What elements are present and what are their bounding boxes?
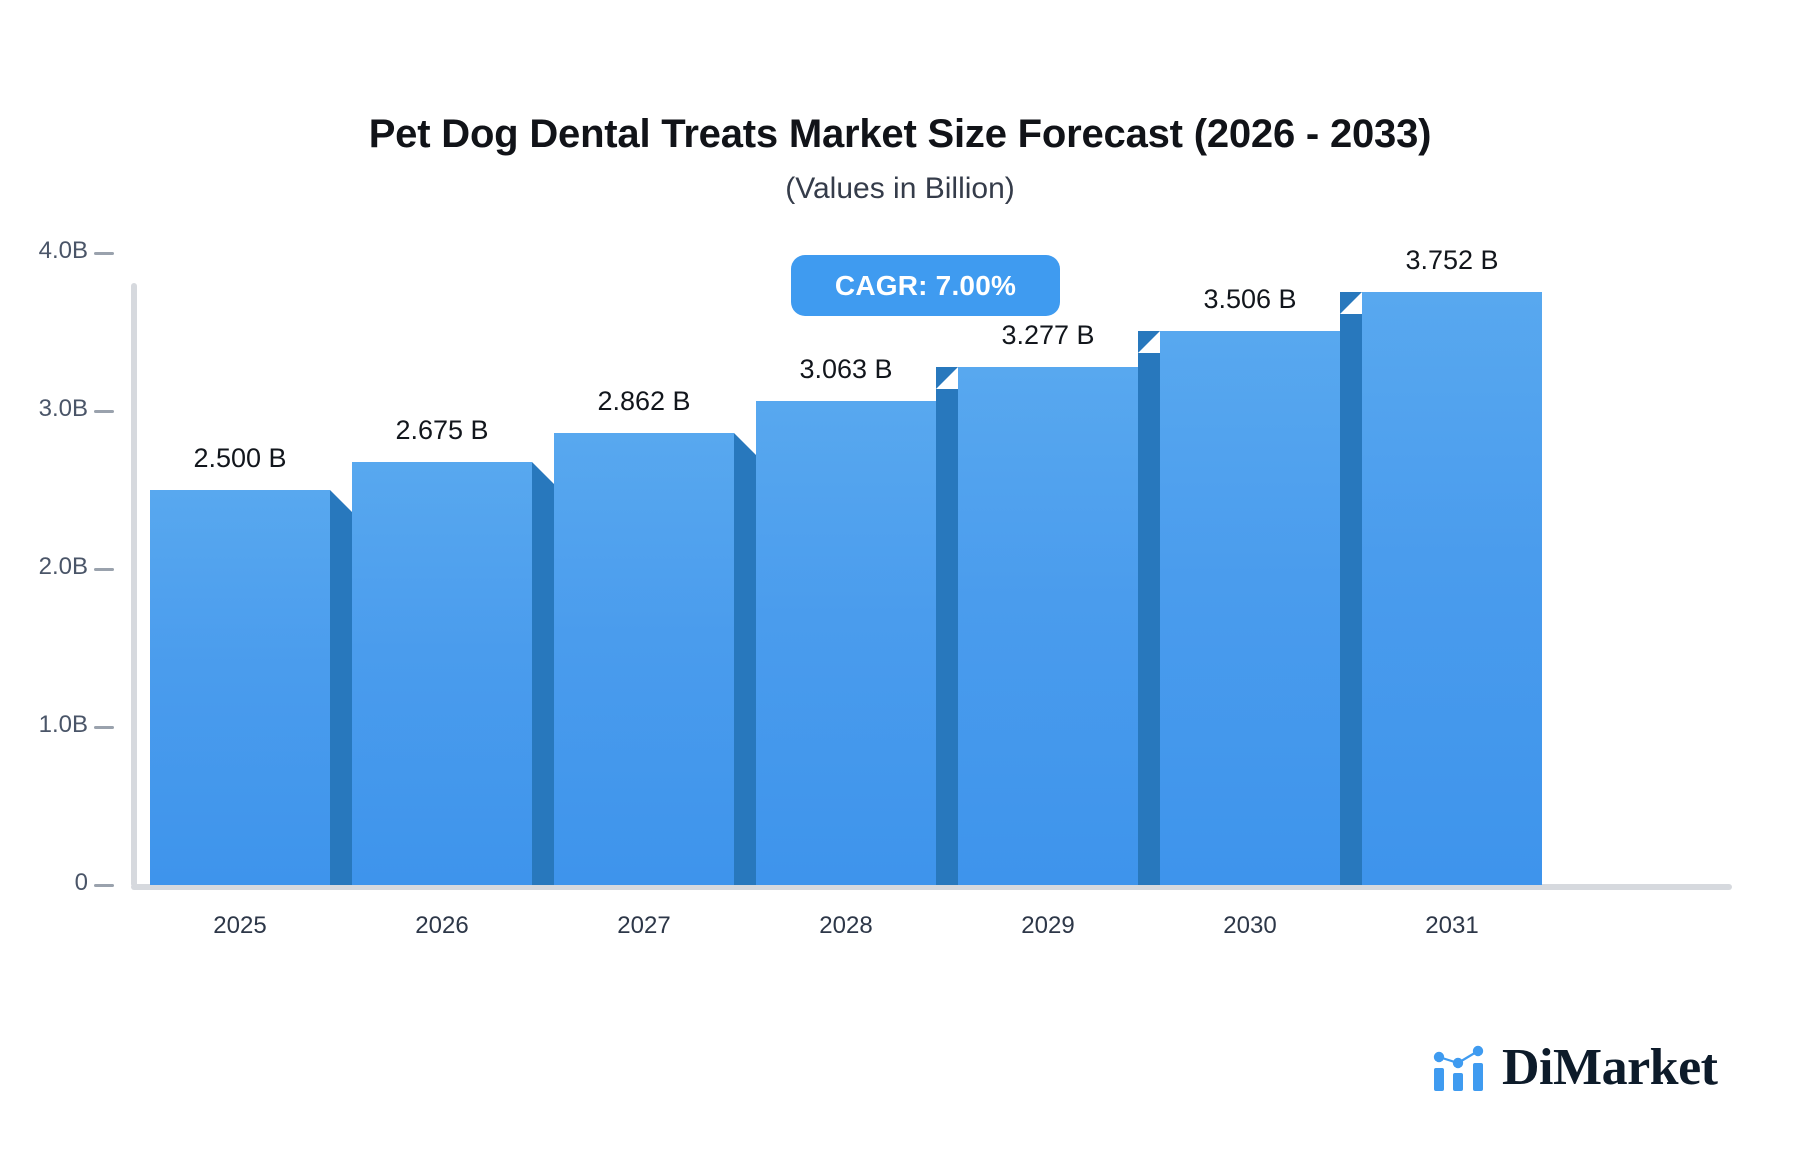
bar-face (958, 367, 1138, 885)
y-axis-tick-label: 1.0B (39, 711, 88, 739)
bar-top-bevel (1138, 331, 1160, 353)
bar[interactable] (150, 490, 330, 885)
bar-face (1160, 331, 1340, 885)
bar-value-label: 3.063 B (726, 354, 966, 385)
bar-side-face (936, 389, 958, 885)
bar-top-bevel (330, 490, 352, 512)
bar-side-face (330, 512, 352, 885)
logo-text: DiMarket (1502, 1042, 1717, 1094)
y-axis-tick-mark (94, 252, 114, 255)
y-axis-tick-mark (94, 410, 114, 413)
bar[interactable] (352, 462, 532, 885)
y-axis-tick-label: 3.0B (39, 395, 88, 423)
dimarket-logo: DiMarket (1432, 1042, 1717, 1094)
bar-top-bevel (1340, 292, 1362, 314)
y-axis-tick-label: 2.0B (39, 553, 88, 581)
chart-canvas: Pet Dog Dental Treats Market Size Foreca… (0, 0, 1800, 1156)
bar-chart-logo-icon (1432, 1043, 1488, 1093)
bar-face (150, 490, 330, 885)
bar-top-bevel (734, 433, 756, 455)
y-axis-tick-mark (94, 568, 114, 571)
bar-side-face (1138, 353, 1160, 885)
bar-value-label: 2.500 B (120, 443, 360, 474)
bar-side-face (1340, 314, 1362, 885)
bar-face (352, 462, 532, 885)
bar-face (1362, 292, 1542, 885)
bar-side-face (734, 455, 756, 885)
y-axis-line (131, 283, 137, 887)
bar-face (554, 433, 734, 885)
bar-value-label: 3.277 B (928, 320, 1168, 351)
bar-face (756, 401, 936, 885)
y-axis-tick-label: 4.0B (39, 237, 88, 265)
bar-value-label: 3.506 B (1130, 284, 1370, 315)
x-axis-tick-label: 2031 (1332, 912, 1572, 940)
bar[interactable] (756, 401, 936, 885)
bar-top-bevel (532, 462, 554, 484)
bar[interactable] (1362, 292, 1542, 885)
bar-value-label: 2.675 B (322, 415, 562, 446)
bar[interactable] (554, 433, 734, 885)
plot-area: 01.0B2.0B3.0B4.0B 2.500 B2.675 B2.862 B3… (0, 0, 1800, 1156)
bar-top-bevel (936, 367, 958, 389)
bar[interactable] (1160, 331, 1340, 885)
bar-value-label: 2.862 B (524, 386, 764, 417)
bar-value-label: 3.752 B (1332, 245, 1572, 276)
y-axis-tick-label: 0 (75, 869, 88, 897)
y-axis-tick-mark (94, 884, 114, 887)
bar[interactable] (958, 367, 1138, 885)
y-axis-tick-mark (94, 726, 114, 729)
bar-side-face (532, 484, 554, 885)
